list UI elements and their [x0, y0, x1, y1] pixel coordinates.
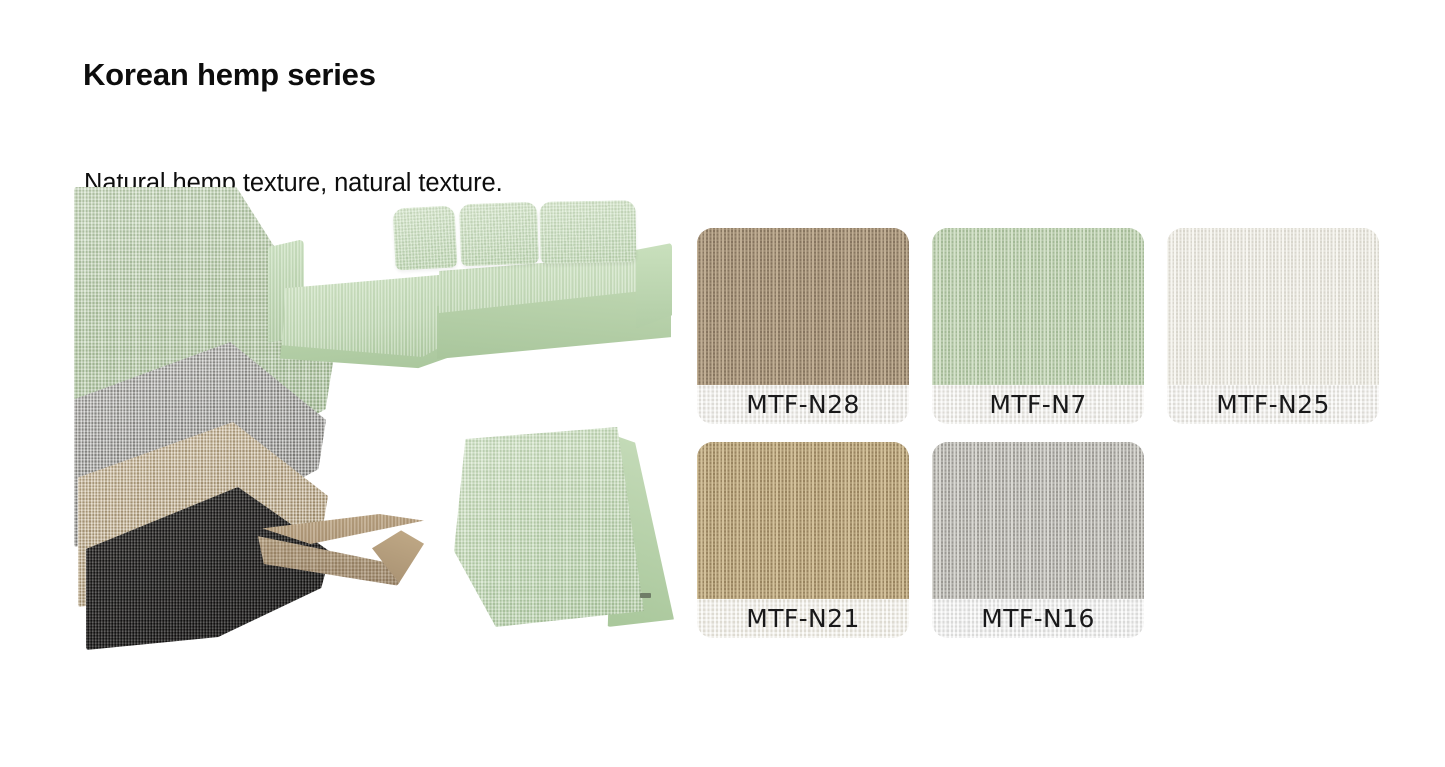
- swatch-fabric-texture: [697, 442, 909, 599]
- swatch-card-mtf-n21[interactable]: MTF-N21: [697, 442, 909, 638]
- swatch-fabric-texture: [932, 228, 1144, 385]
- sofa-chaise-seat: [282, 273, 462, 357]
- sofa-back-cushion-2: [459, 202, 539, 267]
- sofa-right-arm: [636, 243, 672, 329]
- swatch-row-1: MTF-N28 MTF-N7 MTF-N25: [697, 228, 1369, 424]
- swatch-card-mtf-n28[interactable]: MTF-N28: [697, 228, 909, 424]
- swatch-code-label: MTF-N25: [1216, 392, 1330, 417]
- swatch-card-mtf-n7[interactable]: MTF-N7: [932, 228, 1144, 424]
- sectional-sofa-photo: [264, 195, 679, 383]
- sofa-back-cushion-3: [539, 200, 636, 264]
- swatch-card-mtf-n25[interactable]: MTF-N25: [1167, 228, 1379, 424]
- swatch-fabric-texture: [697, 228, 909, 385]
- swatch-code-label: MTF-N28: [746, 392, 860, 417]
- swatch-label-band: MTF-N25: [1167, 385, 1379, 424]
- swatch-code-label: MTF-N21: [746, 606, 860, 631]
- swatch-label-band: MTF-N21: [697, 599, 909, 638]
- swatch-row-2: MTF-N21 MTF-N16: [697, 442, 1369, 638]
- swatch-code-label: MTF-N16: [981, 606, 1095, 631]
- swatch-fabric-texture: [1167, 228, 1379, 385]
- swatch-label-band: MTF-N28: [697, 385, 909, 424]
- wedge-brand-tag: [640, 593, 651, 598]
- page-title: Korean hemp series: [83, 57, 376, 93]
- fabric-swatch-grid: MTF-N28 MTF-N7 MTF-N25 MTF-N21 MTF-N1: [697, 228, 1369, 648]
- swatch-card-mtf-n16[interactable]: MTF-N16: [932, 442, 1144, 638]
- bolster-cushion-photo: [252, 514, 424, 586]
- swatch-code-label: MTF-N7: [989, 392, 1086, 417]
- swatch-label-band: MTF-N16: [932, 599, 1144, 638]
- swatch-label-band: MTF-N7: [932, 385, 1144, 424]
- wedge-front-face: [454, 427, 644, 627]
- wedge-backrest-pillow-photo: [454, 427, 674, 627]
- sofa-back-cushion-1: [392, 205, 457, 270]
- swatch-fabric-texture: [932, 442, 1144, 599]
- product-photo-collage: [84, 187, 684, 650]
